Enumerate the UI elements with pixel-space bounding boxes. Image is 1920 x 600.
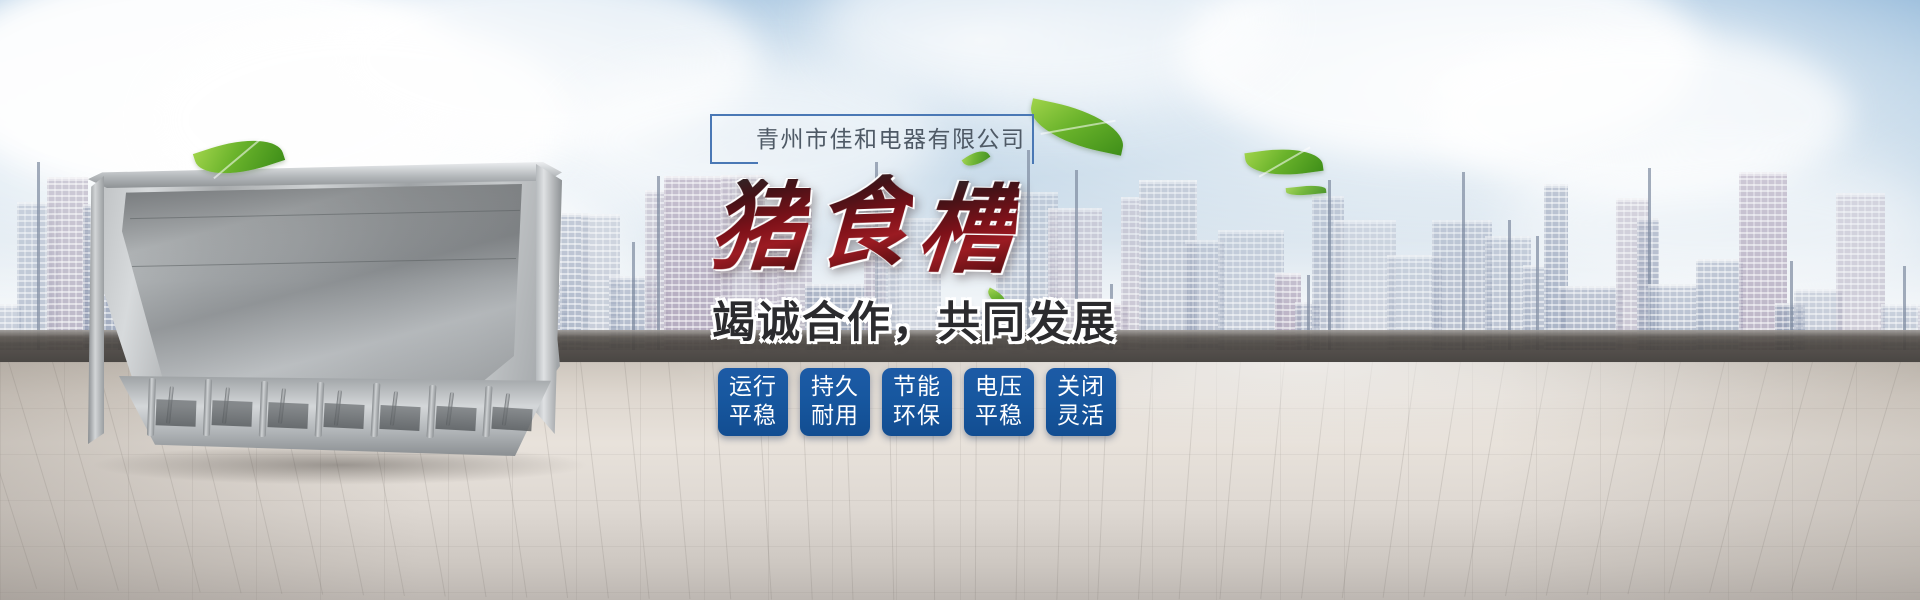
- badge-line-1: 运行: [729, 373, 777, 402]
- skyline-spire: [37, 162, 40, 350]
- title-char: 猪: [707, 179, 812, 277]
- title-char: 槽: [914, 180, 1020, 280]
- trough-cell-shadow: [156, 399, 197, 426]
- title-char: 食: [812, 173, 914, 274]
- badge-line-1: 节能: [893, 373, 941, 402]
- feature-badge[interactable]: 节能 环保: [882, 368, 952, 436]
- trough-cell-shadow: [379, 405, 420, 431]
- skyline-building: [1836, 193, 1886, 350]
- banner-copy: 青州市佳和电器有限公司 猪 食 槽 竭诚合作，共同发展 运行 平稳 持久 耐用 …: [690, 96, 1250, 496]
- trough-cell-shadow: [435, 406, 476, 431]
- feature-badge[interactable]: 电压 平稳: [964, 368, 1034, 436]
- badge-line-2: 环保: [893, 402, 941, 431]
- skyline-spire: [1328, 180, 1331, 350]
- product-image-pig-trough: [70, 150, 590, 480]
- slogan: 竭诚合作，共同发展: [712, 288, 1132, 350]
- trough-cell-shadow: [212, 401, 253, 428]
- feature-badge[interactable]: 持久 耐用: [800, 368, 870, 436]
- promo-banner: 青州市佳和电器有限公司 猪 食 槽 竭诚合作，共同发展 运行 平稳 持久 耐用 …: [0, 0, 1920, 600]
- page-title: 猪 食 槽: [710, 168, 1040, 288]
- badge-line-2: 平稳: [975, 402, 1023, 431]
- feature-badge-list: 运行 平稳 持久 耐用 节能 环保 电压 平稳 关闭 灵活: [718, 368, 1116, 436]
- badge-line-2: 灵活: [1057, 402, 1105, 431]
- trough-cell-shadow: [323, 403, 364, 429]
- badge-line-1: 持久: [811, 373, 859, 402]
- badge-line-2: 平稳: [729, 402, 777, 431]
- feature-badge[interactable]: 关闭 灵活: [1046, 368, 1116, 436]
- badge-line-2: 耐用: [811, 402, 859, 431]
- company-name: 青州市佳和电器有限公司: [756, 120, 1056, 154]
- trough-cell-shadow: [491, 407, 532, 432]
- feature-badge[interactable]: 运行 平稳: [718, 368, 788, 436]
- skyline-spire: [657, 176, 660, 350]
- trough-cell-shadow: [267, 402, 308, 429]
- badge-line-1: 电压: [975, 373, 1023, 402]
- skyline-spire: [1462, 172, 1465, 350]
- badge-line-1: 关闭: [1057, 373, 1105, 402]
